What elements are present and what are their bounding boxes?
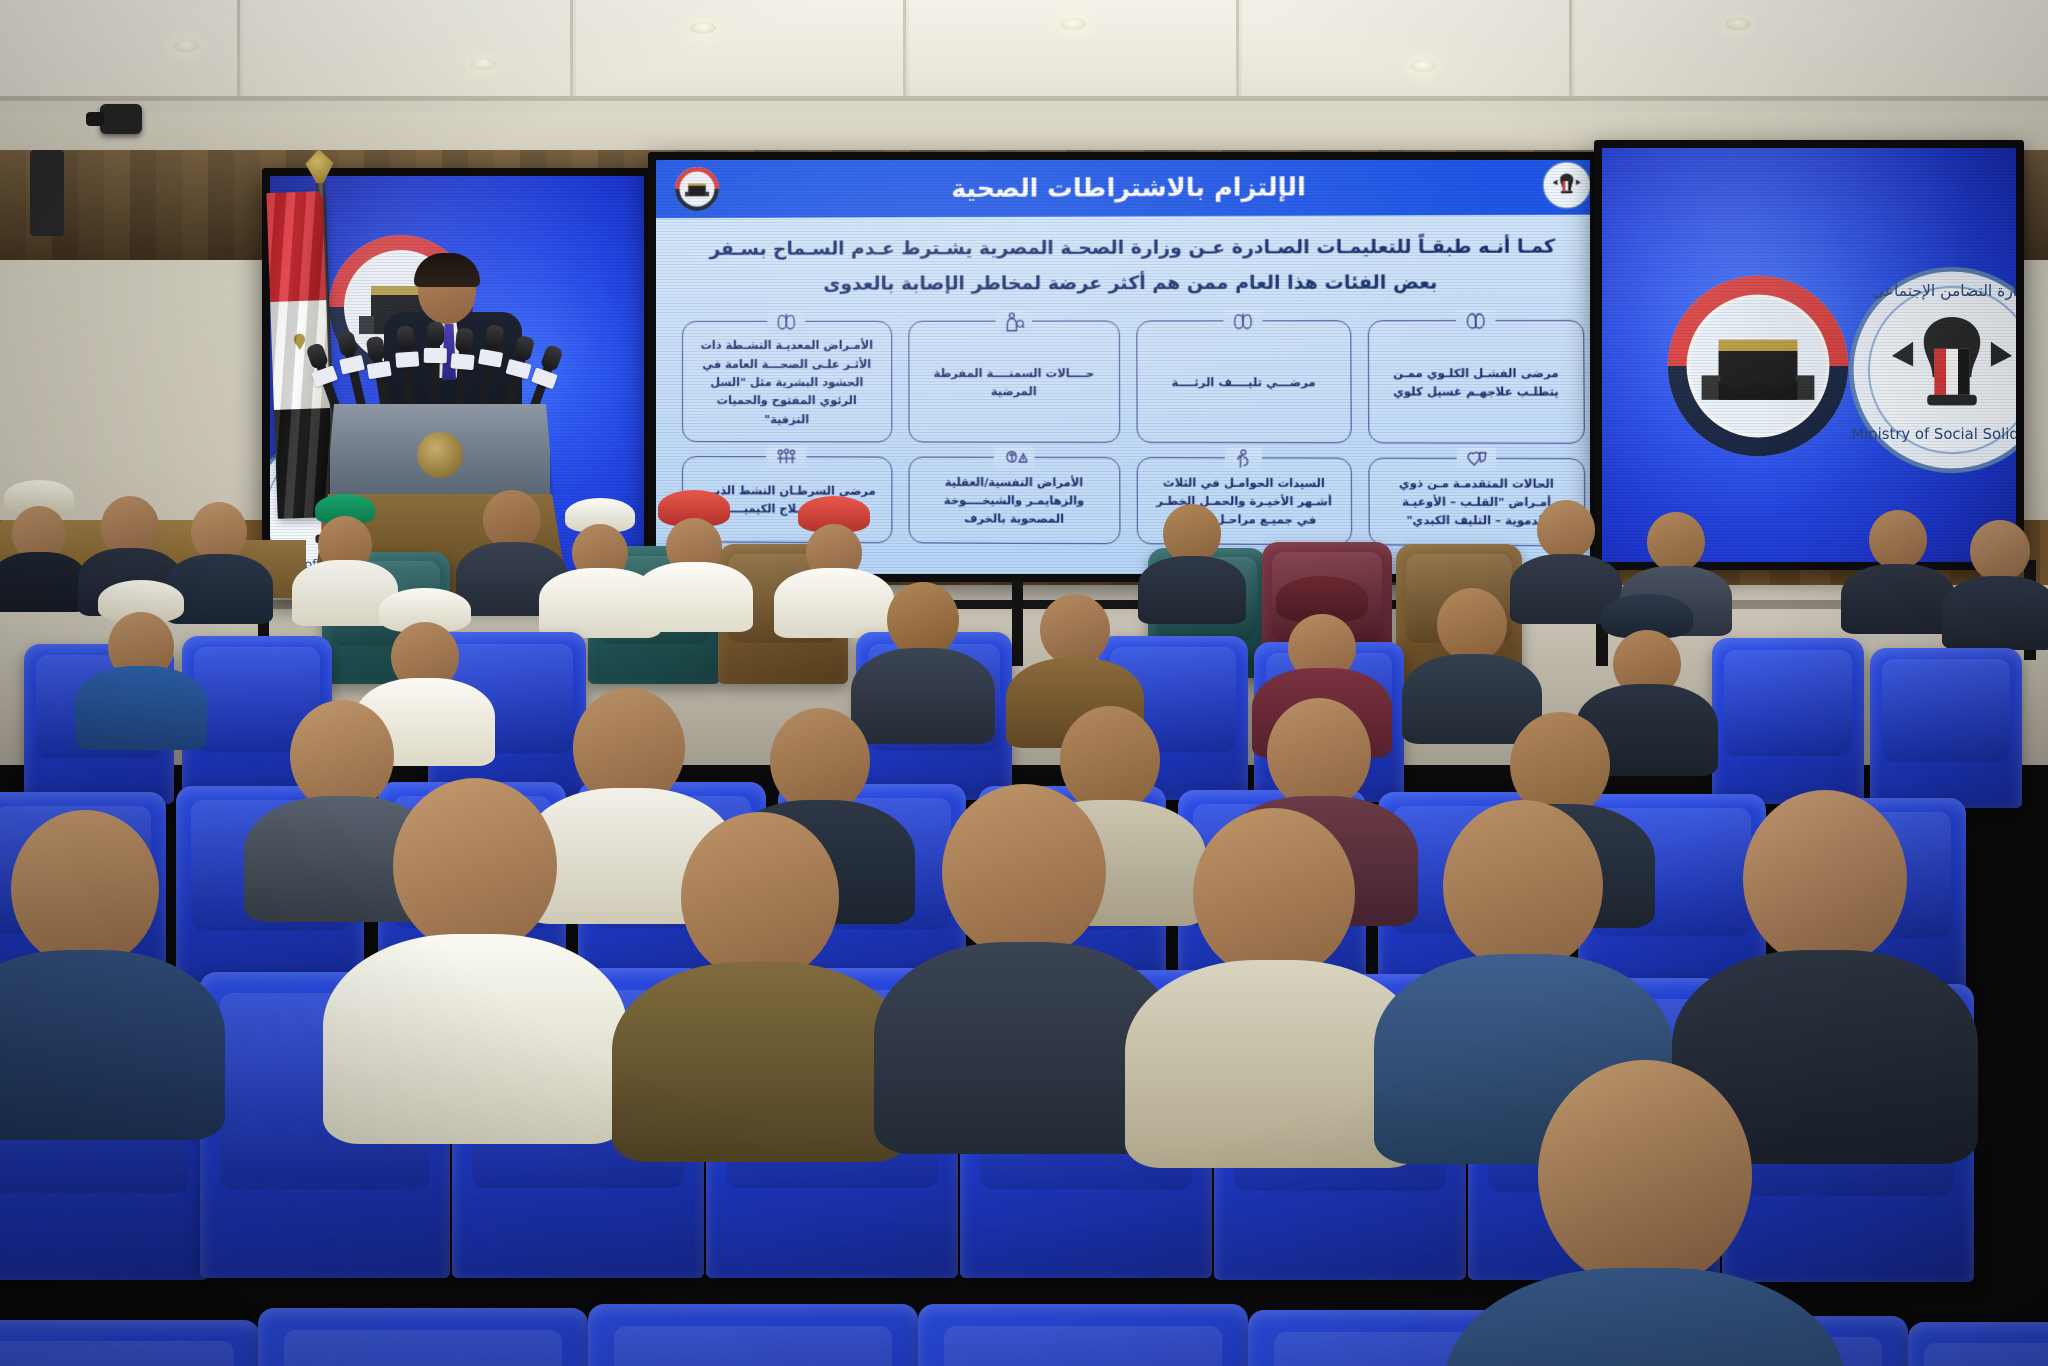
ceiling-downlight <box>470 58 496 70</box>
condition-card-text: مرضى الفشـل الكلـوي ممـن يتطلـب علاجهـم … <box>1379 365 1573 402</box>
ceiling-slab <box>1575 0 2048 96</box>
chair <box>1870 648 2022 808</box>
ceiling-downlight <box>1725 18 1751 30</box>
ceiling-downlight <box>1060 18 1086 30</box>
led-screen-right: Ministry of Social Solidarity وزارة التض… <box>1594 140 2024 570</box>
slide-title-bar: الإلتزام بالاشتراطات الصحية <box>656 160 1590 218</box>
hajj-foundation-seal <box>1664 272 1852 460</box>
chair <box>918 1304 1248 1366</box>
ceiling-seam <box>0 96 2048 101</box>
pregnancy-icon <box>1225 447 1262 469</box>
condition-card: الأمـراض المعديـة النشـطة ذات الأثـر علـ… <box>682 321 892 442</box>
ceiling-slab <box>0 0 240 96</box>
cancer-icon <box>767 446 807 468</box>
egypt-state-emblem <box>417 432 463 478</box>
seal-label-ar: وزارة التضامن الإجتماعي <box>1872 282 2016 301</box>
heart-liver-icon <box>1456 447 1496 470</box>
ceiling-slab <box>909 0 1239 96</box>
obesity-icon <box>995 311 1032 333</box>
brain-icon <box>994 447 1035 469</box>
slide-title: الإلتزام بالاشتراطات الصحية <box>951 172 1306 203</box>
condition-card-text: الأمـراض المعديـة النشـطة ذات الأثـر علـ… <box>693 337 881 429</box>
audience-member <box>1152 808 1396 1138</box>
condition-card: مرضـــي تليــــف الرئــــة <box>1136 321 1351 444</box>
audience-member <box>900 784 1148 1120</box>
ceiling-camera-icon <box>100 104 142 134</box>
lungs-icon <box>767 311 805 333</box>
audience-member <box>1480 1060 1810 1366</box>
condition-card-text: مرضـــي تليــــف الرئــــة <box>1172 374 1316 393</box>
audience-member <box>648 490 740 610</box>
seated-audience <box>0 560 2048 1366</box>
kidney-icon <box>1456 310 1496 332</box>
ministry-of-social-solidarity-seal <box>1542 161 1590 210</box>
audience-member <box>552 498 648 618</box>
audience-member <box>86 580 196 730</box>
slide-intro-line-2: بعض الفئات هذا العام ممن هم أكثر عرضة لم… <box>682 264 1584 301</box>
condition-card: حــــالات السمنــــة المفرطة المرضية <box>908 321 1120 443</box>
condition-card: الأمراض النفسية/العقلية والزهايمـر والشي… <box>908 456 1120 544</box>
chair <box>0 1320 260 1366</box>
chair <box>258 1308 588 1366</box>
audience-member <box>350 778 600 1108</box>
ceiling-slab <box>1242 0 1572 96</box>
condition-card: مرضى الفشـل الكلـوي ممـن يتطلـب علاجهـم … <box>1367 320 1585 443</box>
condition-card-text: حــــالات السمنــــة المفرطة المرضية <box>919 365 1109 402</box>
audience-member <box>1952 520 2048 640</box>
chair <box>1712 638 1864 804</box>
audience-member <box>1148 504 1236 614</box>
chair <box>1908 1322 2048 1366</box>
wall-speaker <box>30 150 64 236</box>
seal-label-en: Ministry of Social Solidarity <box>1851 426 2016 443</box>
lungs-icon <box>1224 311 1263 333</box>
ministry-of-social-solidarity-seal: Ministry of Social Solidarity وزارة التض… <box>1846 264 2016 476</box>
ceiling-downlight <box>690 22 716 34</box>
ceiling-slab <box>243 0 573 96</box>
audience-member <box>1852 510 1944 622</box>
ceiling-downlight <box>173 40 199 52</box>
conference-hall-scene: Ministry of Social Solidarity وزارة التض… <box>0 0 2048 1366</box>
condition-card-text: الأمراض النفسية/العقلية والزهايمـر والشي… <box>919 474 1109 530</box>
slide-intro-line-1: كمـا أنـه طبقـاً للتعليمـات الصـادرة عـن… <box>682 229 1584 267</box>
hajj-foundation-seal <box>674 166 720 212</box>
chair <box>588 1304 918 1366</box>
ceiling-slab <box>576 0 906 96</box>
ceiling-downlight <box>1410 60 1436 72</box>
audience-member <box>0 810 200 1110</box>
audience-member <box>0 480 78 590</box>
audience-member <box>640 812 880 1132</box>
